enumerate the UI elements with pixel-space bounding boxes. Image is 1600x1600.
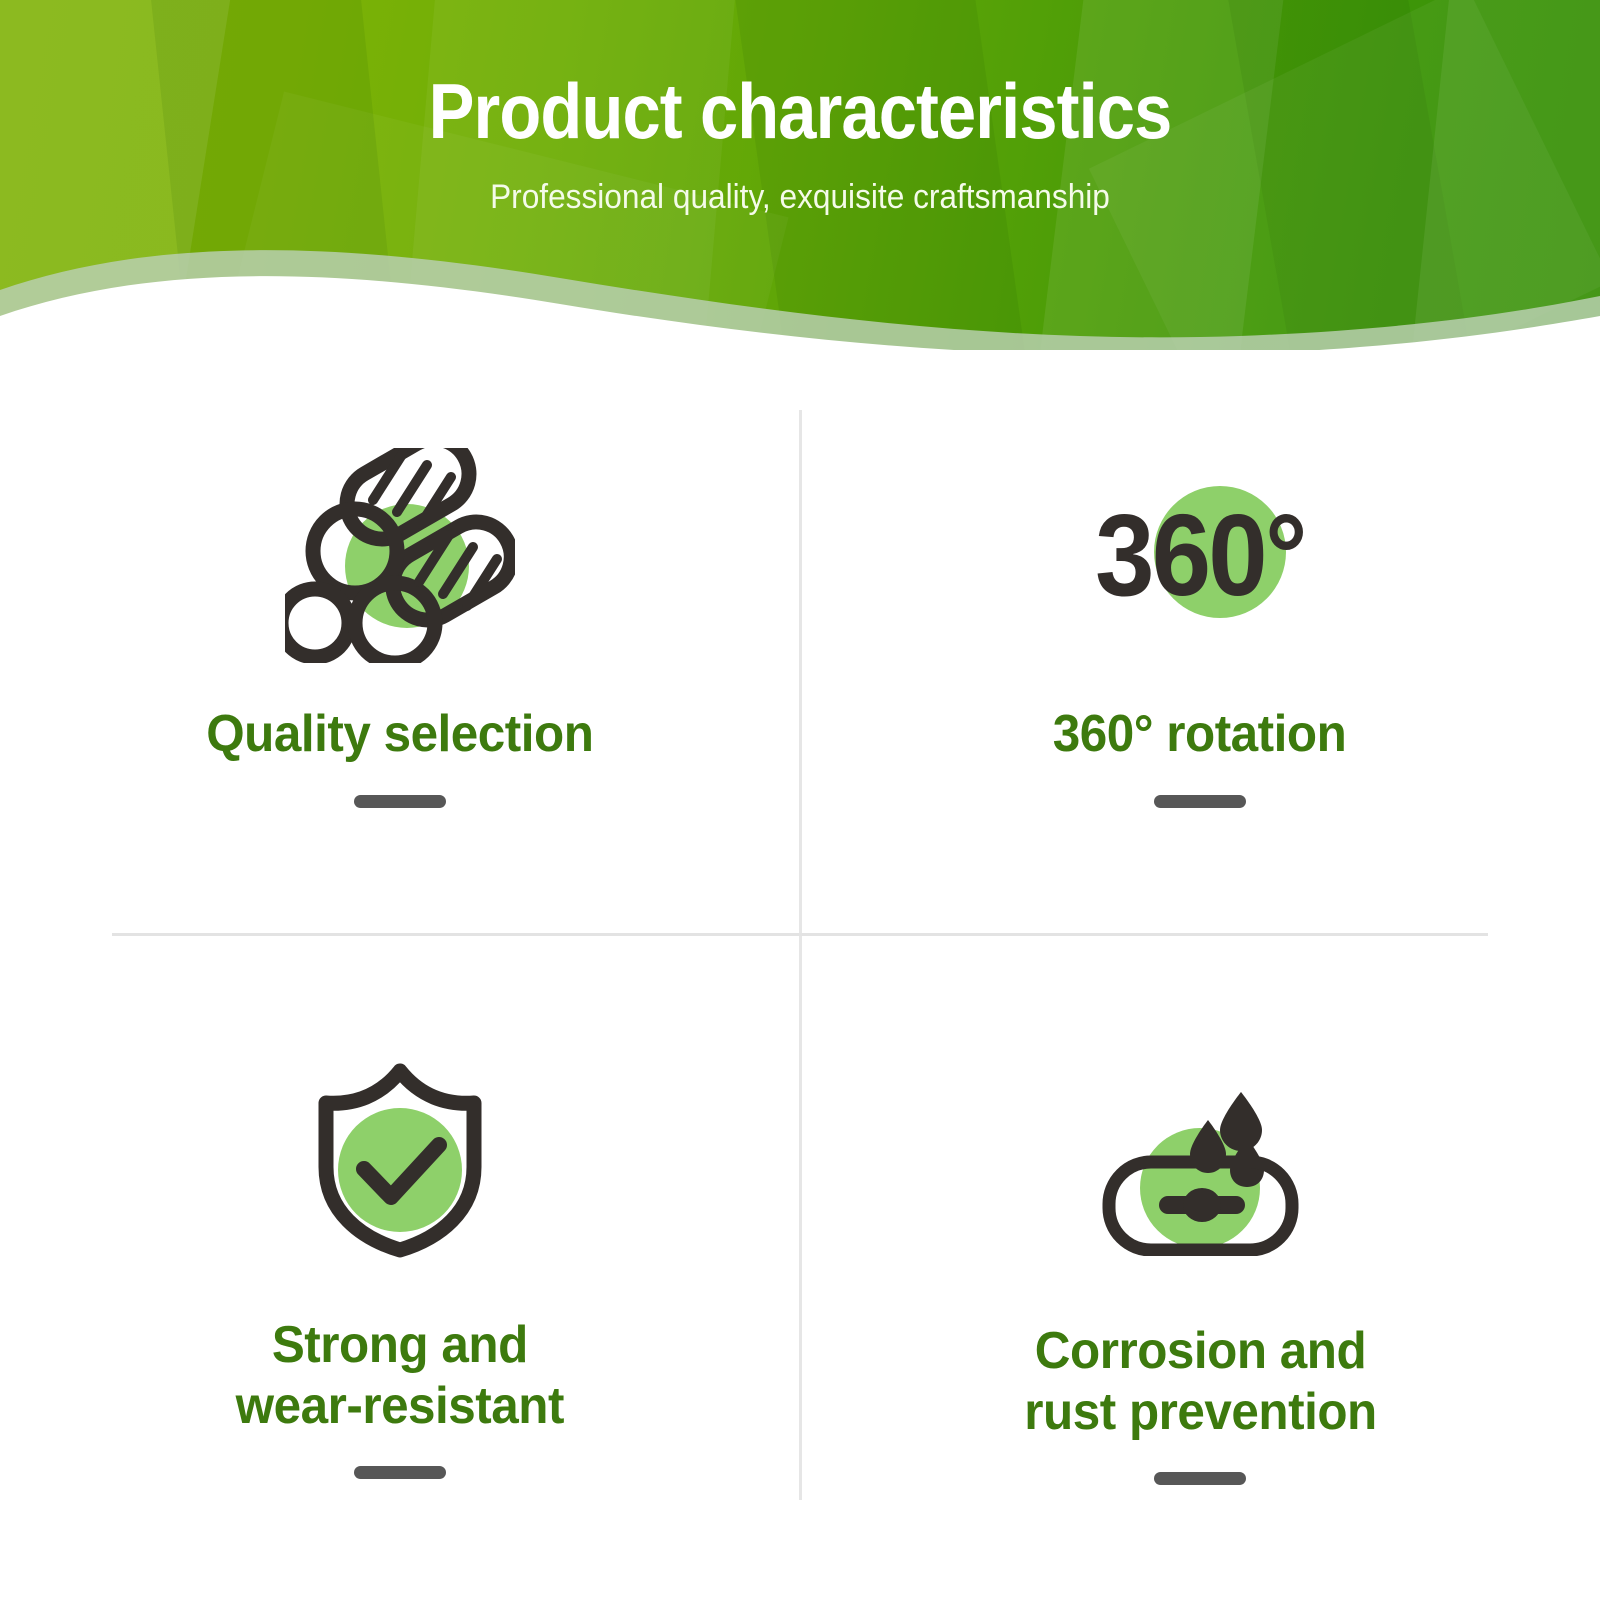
header-banner: Product characteristics Professional qua… xyxy=(0,0,1600,350)
feature-underline-dash xyxy=(354,1466,446,1479)
feature-label-line-2: wear-resistant xyxy=(236,1377,564,1435)
feature-underline-dash xyxy=(1154,1472,1246,1485)
icon-wrap-quality-selection xyxy=(285,350,515,700)
360-degree-text: 360° xyxy=(1095,497,1305,613)
banner-text-block: Product characteristics Professional qua… xyxy=(0,0,1600,217)
feature-label-line-1: Strong and xyxy=(272,1316,528,1374)
360-degree-icon: 360° xyxy=(1050,480,1350,630)
feature-label-line-1: Corrosion and xyxy=(1034,1322,1365,1380)
feature-label-360-rotation: 360° rotation xyxy=(1053,704,1347,765)
feature-label-line-2: rust prevention xyxy=(1024,1383,1376,1441)
feature-underline-dash xyxy=(354,795,446,808)
shield-check-icon xyxy=(308,1063,493,1258)
feature-card-corrosion-rust-prevention[interactable]: Corrosion and rust prevention xyxy=(800,975,1600,1600)
feature-label-corrosion-rust-prevention: Corrosion and rust prevention xyxy=(1024,1321,1376,1444)
feature-card-quality-selection[interactable]: Quality selection xyxy=(0,350,800,975)
water-drops-pipe-icon xyxy=(1098,1076,1303,1256)
icon-wrap-corrosion-rust-prevention xyxy=(1098,975,1303,1311)
feature-grid: Quality selection 360° 360° rotation xyxy=(0,350,1600,1600)
product-characteristics-page: Product characteristics Professional qua… xyxy=(0,0,1600,1600)
page-subtitle: Professional quality, exquisite craftsma… xyxy=(56,152,1544,217)
banner-wave-divider xyxy=(0,232,1600,350)
feature-label-strong-wear-resistant: Strong and wear-resistant xyxy=(236,1315,564,1438)
feature-underline-dash xyxy=(1154,795,1246,808)
page-title: Product characteristics xyxy=(96,0,1504,152)
icon-wrap-360-rotation: 360° xyxy=(1050,350,1350,700)
feature-card-360-rotation[interactable]: 360° 360° rotation xyxy=(800,350,1600,975)
feature-label-quality-selection: Quality selection xyxy=(206,704,593,765)
feature-card-strong-wear-resistant[interactable]: Strong and wear-resistant xyxy=(0,975,800,1600)
icon-wrap-strong-wear-resistant xyxy=(308,975,493,1305)
stacked-pipes-icon xyxy=(285,448,515,663)
